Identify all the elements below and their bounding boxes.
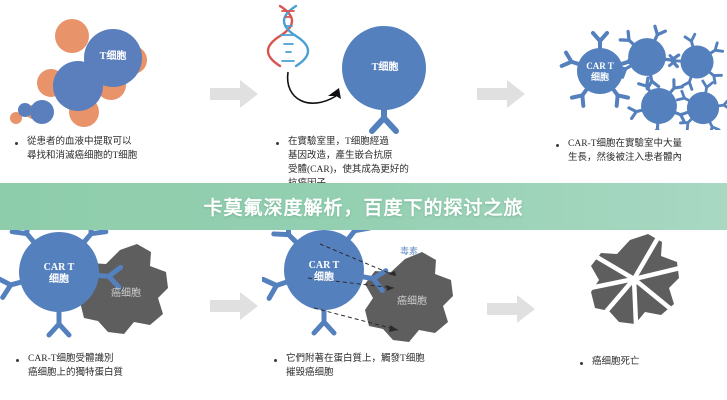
panel-expand-cart: CAR T 细胞 CAR-T细胞在實驗室中大量 生長，然後被注入患者體內	[528, 0, 727, 185]
panel-caption: CAR-T细胞受體識別 癌细胞上的獨特蛋白質	[28, 352, 203, 380]
blood-cells-cluster	[0, 0, 205, 130]
panel-recognize-antigen: CAR T 细胞 癌细胞 CAR-T细胞受體識別 癌细胞上的獨特蛋白質	[0, 222, 205, 400]
arrow-step-2-to-3	[477, 80, 525, 108]
page-title: 卡莫氟深度解析，百度下的探讨之旅	[203, 193, 523, 220]
panel-gene-engineering: T细胞 在實驗室里，T细胞經過 基因改造，產生嵌合抗原 受體(CAR)，使其成為…	[262, 0, 477, 185]
infographic-canvas: T细胞 從患者的血液中提取可以 尋找和消滅癌细胞的T细胞	[0, 0, 727, 400]
title-banner: 卡莫氟深度解析，百度下的探讨之旅	[0, 183, 727, 230]
shattered-cancer-cell	[528, 222, 727, 347]
cart-releasing-toxins	[262, 222, 487, 347]
panel-cancer-cell-death: 癌细胞死亡	[528, 222, 727, 400]
panel-caption: 從患者的血液中提取可以 尋找和消滅癌细胞的T细胞	[27, 135, 202, 163]
caption-bullet	[16, 359, 19, 362]
panel-caption: CAR-T细胞在實驗室中大量 生長，然後被注入患者體內	[568, 137, 727, 165]
cancer-cell-label: 癌细胞	[382, 292, 442, 307]
panel-extract-tcells: T细胞 從患者的血液中提取可以 尋找和消滅癌细胞的T细胞	[0, 0, 205, 185]
caption-bullet	[274, 359, 277, 362]
dna-and-engineered-tcell	[262, 0, 477, 135]
toxin-label: 毒素	[400, 244, 418, 257]
panel-caption: 它們附著在蛋白質上，觸發T细胞 摧毀癌细胞	[286, 352, 491, 380]
arrow-step-1-to-2	[210, 80, 258, 108]
caption-bullet	[580, 362, 583, 365]
cart-cell-multiplication	[528, 0, 727, 130]
panel-caption: 癌细胞死亡	[592, 355, 722, 369]
caption-bullet	[276, 142, 279, 145]
panel-release-toxins: CAR T 细胞 癌细胞 毒素 它們附著在蛋白質上，觸發T细胞 摧毀癌细胞	[262, 222, 487, 400]
caption-bullet	[556, 144, 559, 147]
cancer-cell-label: 癌细胞	[96, 284, 156, 299]
caption-bullet	[15, 142, 18, 145]
arrow-step-4-to-5	[210, 292, 258, 320]
